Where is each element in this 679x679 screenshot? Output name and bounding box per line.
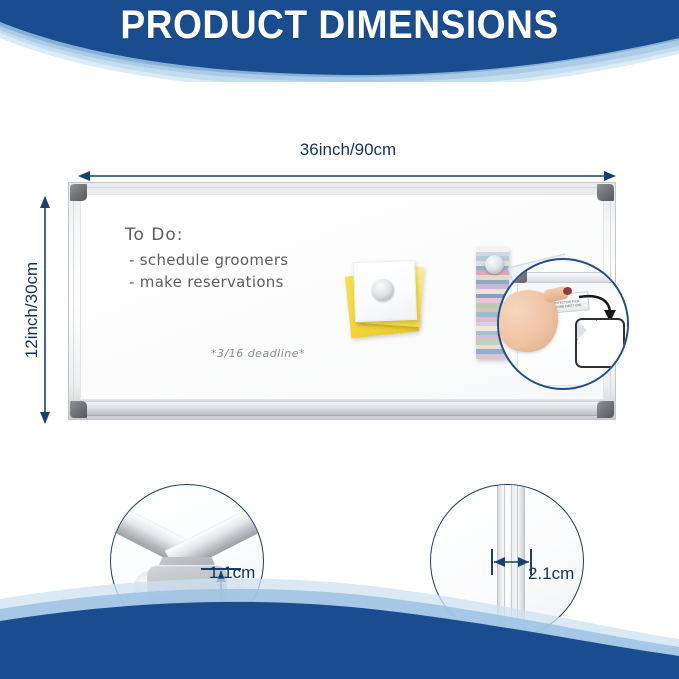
round-magnet-icon xyxy=(372,279,394,301)
zoom-board-top-rail xyxy=(526,272,629,283)
whiteboard-corner-bottom-left xyxy=(70,401,87,418)
peel-corner-icon xyxy=(577,320,597,340)
handwriting-deadline-note: *3/16 deadline* xyxy=(211,347,305,360)
footer-dark-band xyxy=(0,602,679,679)
zoom-board-corner-cap xyxy=(513,270,527,283)
height-dimension-label: 12inch/30cm xyxy=(22,220,42,400)
width-dimension-label: 36inch/90cm xyxy=(248,140,448,160)
whiteboard-corner-bottom-right xyxy=(597,401,614,418)
whiteboard-corner-top-right xyxy=(597,184,614,201)
whiteboard-marker-tray xyxy=(76,401,608,416)
board-panel-peel-icon xyxy=(575,318,625,368)
header-banner: PRODUCT DIMENSIONS xyxy=(0,0,679,82)
footer-wave-graphic xyxy=(0,569,679,679)
footer-banner xyxy=(0,569,679,679)
handwriting-todo-item-2: - make reservations xyxy=(129,273,284,291)
handwriting-todo-item-1: - schedule groomers xyxy=(129,251,288,269)
whiteboard-corner-top-left xyxy=(70,184,87,201)
sticky-notes-cluster xyxy=(346,257,436,347)
protective-film-detail-circle: PEEL OFF PROTECTIVE FILM BEFORE FIRST US… xyxy=(497,258,629,390)
page-title: PRODUCT DIMENSIONS xyxy=(24,3,655,48)
handwriting-todo-title: To Do: xyxy=(125,225,184,245)
